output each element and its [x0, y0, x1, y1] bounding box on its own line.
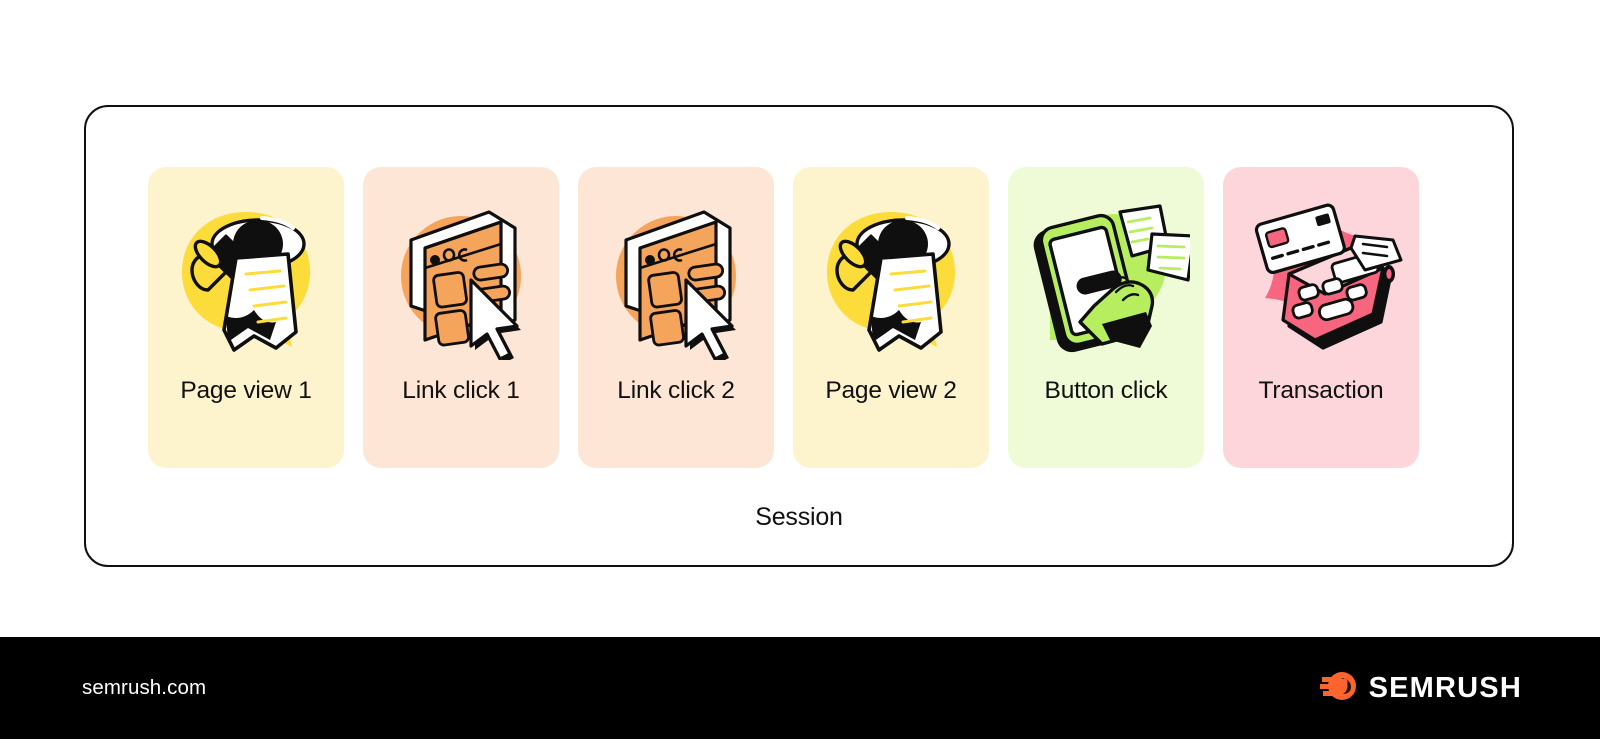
semrush-comet-icon — [1320, 670, 1358, 707]
event-card-label: Page view 1 — [148, 379, 344, 404]
event-card-label: Transaction — [1223, 379, 1419, 404]
diagram-page: Page view 1 — [0, 0, 1600, 739]
page-view-icon — [148, 167, 344, 379]
event-card-label: Link click 2 — [578, 379, 774, 404]
semrush-logo: SEMRUSH — [1320, 670, 1522, 707]
footer-bar: semrush.com SEMRUSH — [0, 637, 1600, 739]
event-card-transaction[interactable]: Transaction — [1223, 167, 1419, 468]
event-card-label: Link click 1 — [363, 379, 559, 404]
event-card-page-view-2[interactable]: Page view 2 — [793, 167, 989, 468]
session-caption: Session — [86, 503, 1512, 532]
footer-url[interactable]: semrush.com — [82, 676, 206, 700]
link-click-icon — [363, 167, 559, 379]
button-click-icon — [1008, 167, 1204, 379]
event-card-link-click-2[interactable]: Link click 2 — [578, 167, 774, 468]
event-card-page-view-1[interactable]: Page view 1 — [148, 167, 344, 468]
event-card-link-click-1[interactable]: Link click 1 — [363, 167, 559, 468]
event-card-label: Page view 2 — [793, 379, 989, 404]
semrush-wordmark: SEMRUSH — [1369, 672, 1522, 705]
event-cards-row: Page view 1 — [148, 167, 1454, 468]
session-container: Page view 1 — [84, 105, 1514, 567]
link-click-icon — [578, 167, 774, 379]
event-card-button-click[interactable]: Button click — [1008, 167, 1204, 468]
event-card-label: Button click — [1008, 379, 1204, 404]
transaction-icon — [1223, 167, 1419, 379]
page-view-icon — [793, 167, 989, 379]
